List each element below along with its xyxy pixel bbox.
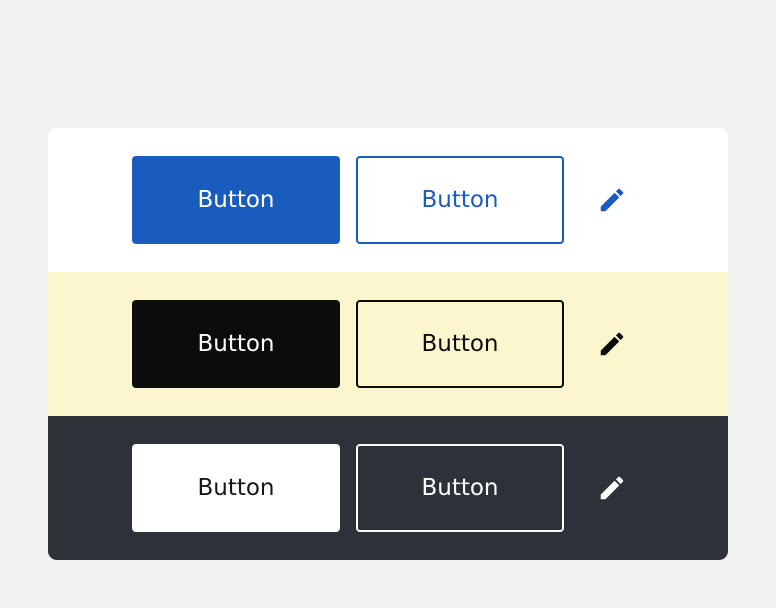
pencil-icon	[597, 329, 627, 359]
edit-icon-button-yellow[interactable]	[588, 320, 636, 368]
theme-row-yellow: Button Button	[48, 272, 728, 416]
primary-button-yellow[interactable]: Button	[132, 300, 340, 388]
edit-icon-button-light[interactable]	[588, 176, 636, 224]
primary-button-light[interactable]: Button	[132, 156, 340, 244]
theme-variants-card: Button Button Button Button Button Butto…	[48, 128, 728, 560]
secondary-button-dark[interactable]: Button	[356, 444, 564, 532]
pencil-icon	[597, 185, 627, 215]
edit-icon-button-dark[interactable]	[588, 464, 636, 512]
secondary-button-yellow[interactable]: Button	[356, 300, 564, 388]
theme-row-dark: Button Button	[48, 416, 728, 560]
pencil-icon	[597, 473, 627, 503]
primary-button-dark[interactable]: Button	[132, 444, 340, 532]
theme-row-light: Button Button	[48, 128, 728, 272]
secondary-button-light[interactable]: Button	[356, 156, 564, 244]
